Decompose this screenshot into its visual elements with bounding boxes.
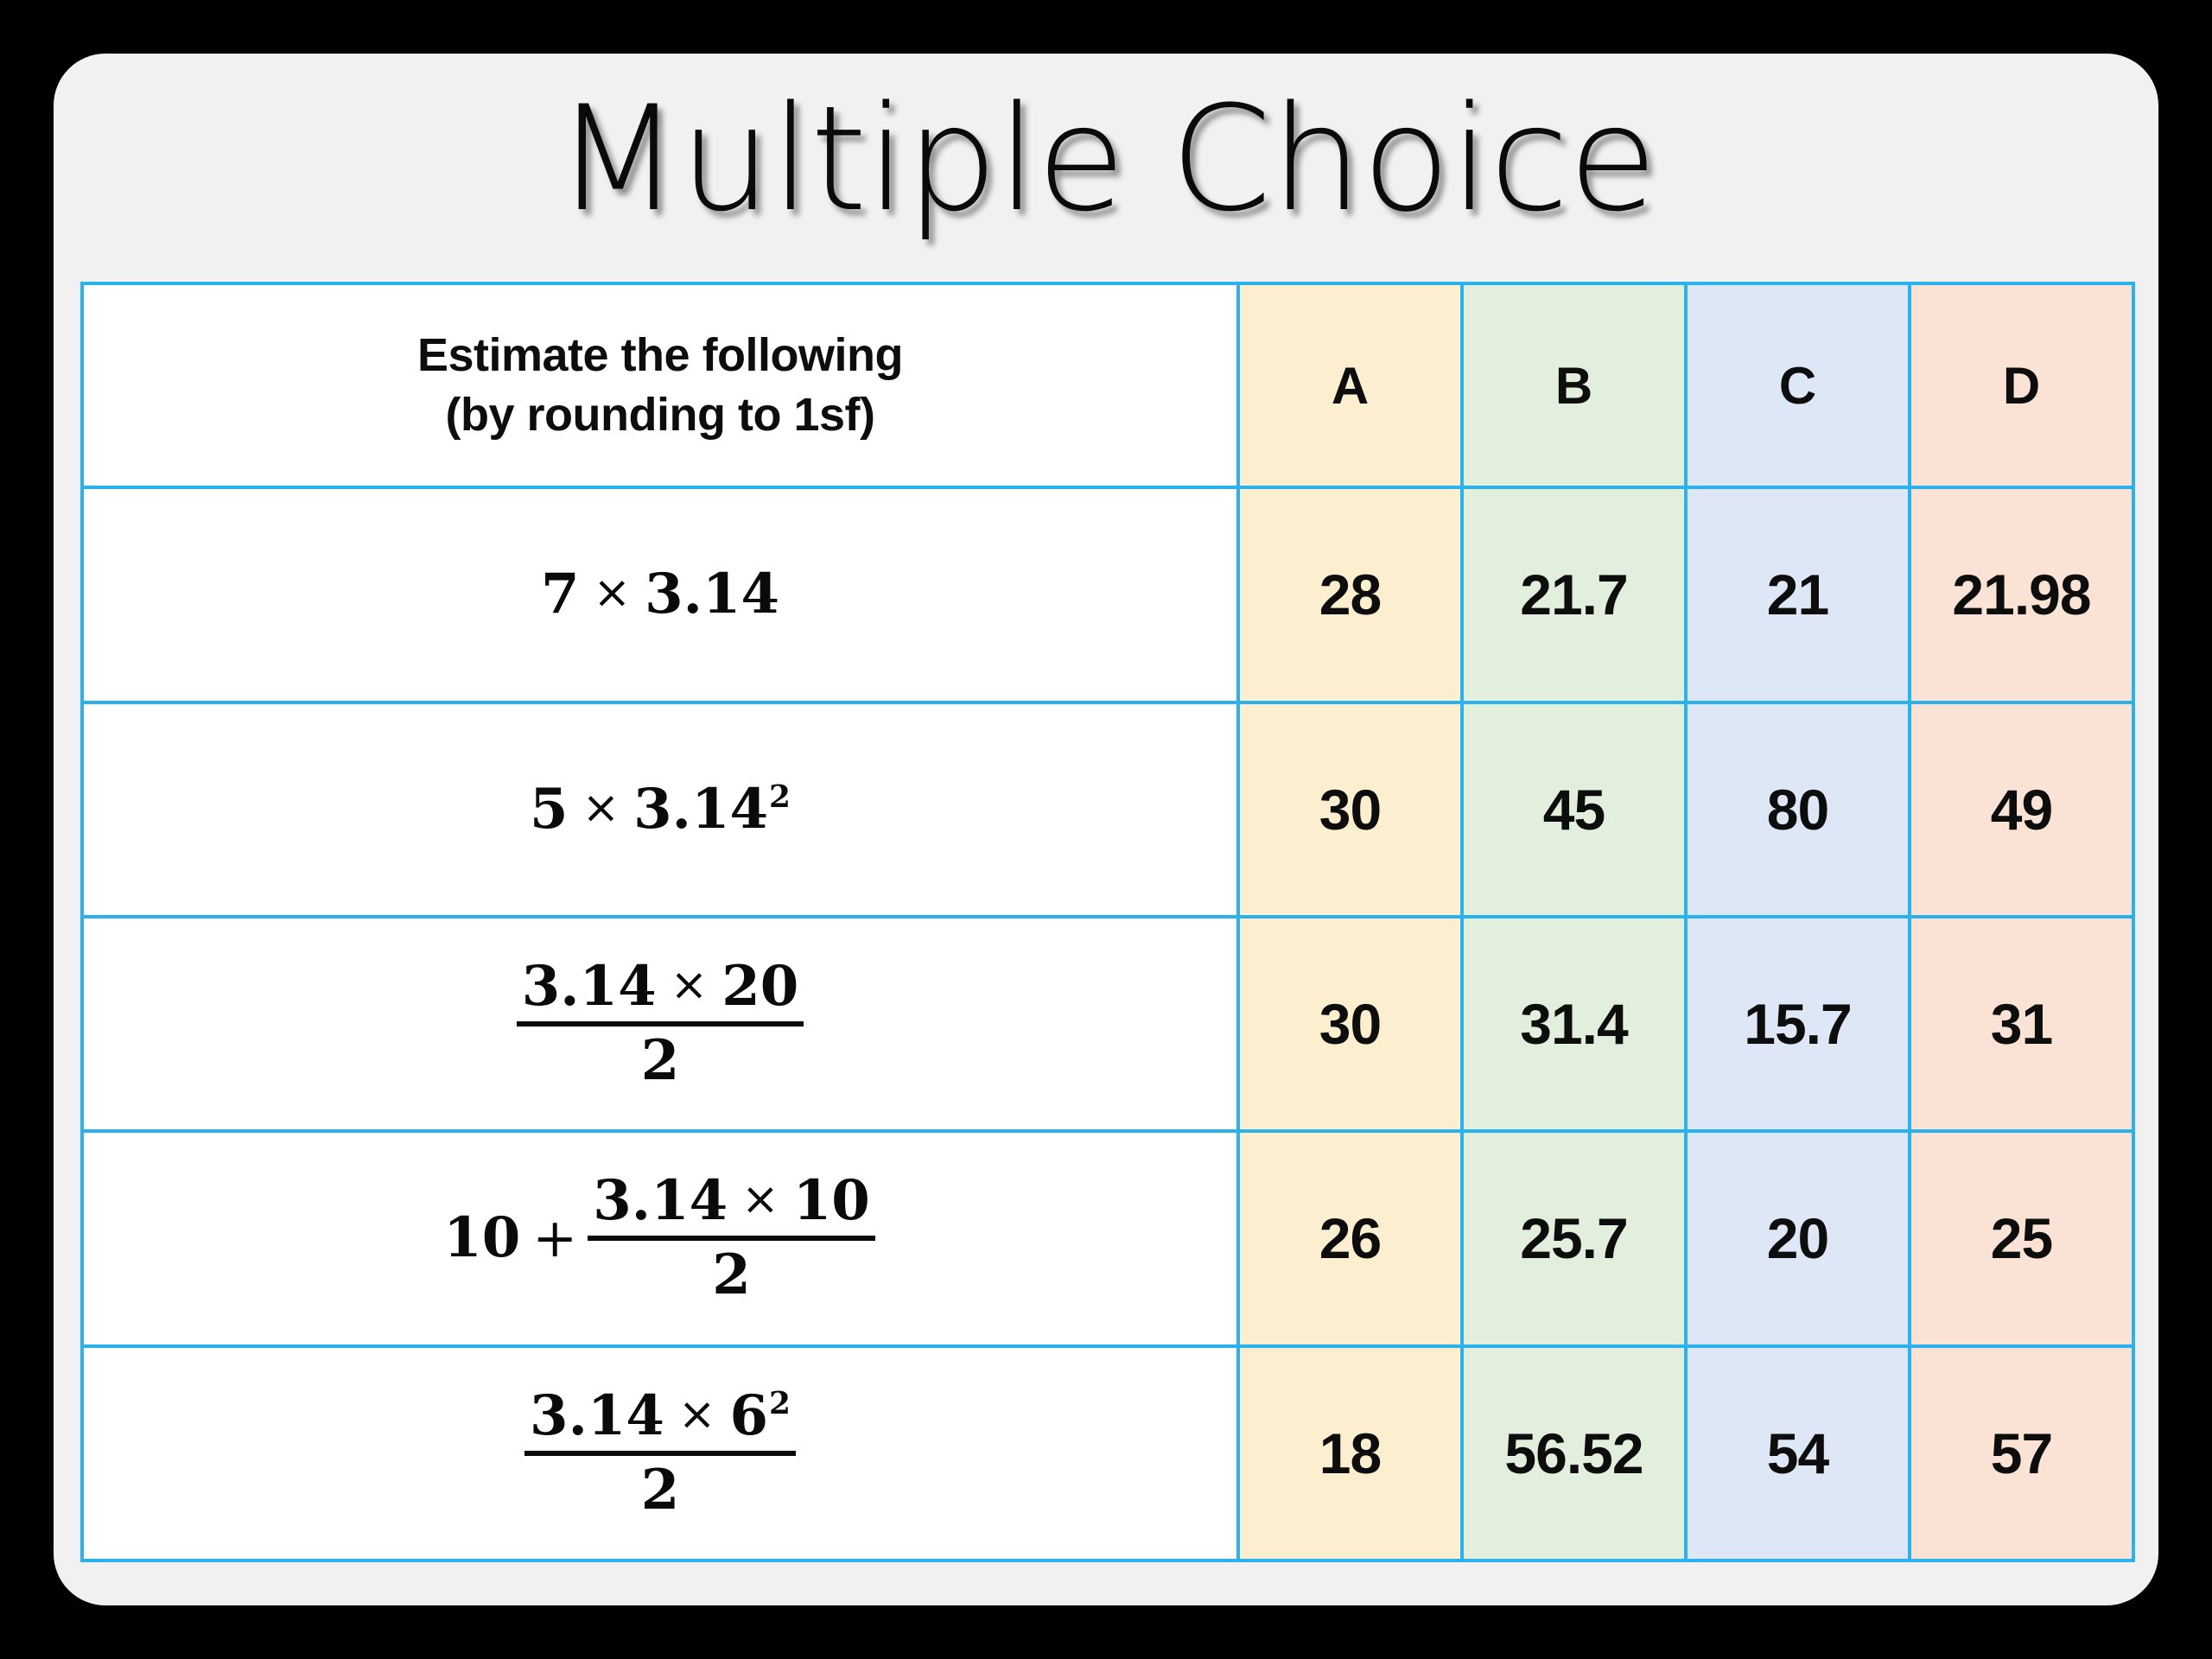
question-cell-4: 10 + 3.14 × 10 2 [82,1131,1238,1345]
expression-1: 7 × 3.14 [541,560,779,629]
fraction-5: 3.14 × 62 2 [524,1389,796,1518]
question-cell-3: 3.14 × 20 2 [82,917,1238,1131]
expression-5: 3.14 × 62 2 [523,1382,798,1525]
question-cell-2: 5 × 3.142 [82,702,1238,917]
expression-2: 5 × 3.142 [530,775,791,844]
answer-cell-d[interactable]: 31 [1910,917,2133,1131]
multiple-choice-table-wrapper: Estimate the following (by rounding to 1… [80,282,2132,1562]
answer-cell-b[interactable]: 25.7 [1462,1131,1686,1345]
answer-cell-c[interactable]: 20 [1686,1131,1910,1345]
fraction-3: 3.14 × 20 2 [517,959,804,1089]
slide-root: Multiple Choice Estimate the following (… [0,0,2212,1659]
fraction-4: 3.14 × 10 2 [588,1173,875,1303]
expr3-num-b: 20 [721,959,798,1014]
expr4-num-a: 3.14 [593,1173,728,1229]
table-row: 7 × 3.14 28 21.7 21 21.98 [82,487,2133,702]
answer-cell-d[interactable]: 25 [1910,1131,2133,1345]
question-header-line1: Estimate the following [84,326,1236,385]
answer-cell-b[interactable]: 21.7 [1462,487,1686,702]
table-header-row: Estimate the following (by rounding to 1… [82,283,2133,487]
choice-header-d: D [1910,283,2133,487]
question-column-header: Estimate the following (by rounding to 1… [82,283,1238,487]
page-title: Multiple Choice [54,83,2158,235]
answer-cell-b[interactable]: 31.4 [1462,917,1686,1131]
fraction-numerator: 3.14 × 62 [524,1389,796,1451]
expr1-operand-b: 3.14 [645,567,779,622]
expr2-operand-a: 5 [530,782,569,837]
answer-cell-d[interactable]: 57 [1910,1346,2133,1560]
multiply-icon: × [671,963,709,1007]
answer-cell-d[interactable]: 49 [1910,702,2133,917]
answer-cell-a[interactable]: 26 [1238,1131,1462,1345]
choice-header-b: B [1462,283,1686,487]
fraction-denominator: 2 [636,1456,685,1518]
fraction-denominator: 2 [636,1027,685,1089]
answer-cell-a[interactable]: 18 [1238,1346,1462,1560]
fraction-numerator: 3.14 × 10 [588,1173,875,1236]
table-row: 5 × 3.142 30 45 80 49 [82,702,2133,917]
fraction-denominator: 2 [707,1241,756,1303]
answer-cell-a[interactable]: 30 [1238,917,1462,1131]
expression-4: 10 + 3.14 × 10 2 [443,1166,877,1310]
answer-cell-b[interactable]: 45 [1462,702,1686,917]
expr5-num-a: 3.14 [530,1389,664,1444]
fraction-numerator: 3.14 × 20 [517,959,804,1021]
question-header-line2: (by rounding to 1sf) [84,385,1236,445]
multiply-icon: × [678,1392,716,1437]
answer-cell-a[interactable]: 30 [1238,702,1462,917]
choice-header-a: A [1238,283,1462,487]
expr2-operand-b: 3.14 [633,782,768,837]
answer-cell-d[interactable]: 21.98 [1910,487,2133,702]
expr5-num-b: 6 [729,1389,768,1444]
question-cell-1: 7 × 3.14 [82,487,1238,702]
slide-card: Multiple Choice Estimate the following (… [54,54,2158,1605]
answer-cell-c[interactable]: 21 [1686,487,1910,702]
question-cell-5: 3.14 × 62 2 [82,1346,1238,1560]
expr3-num-a: 3.14 [522,959,657,1014]
expression-3: 3.14 × 20 2 [515,952,806,1096]
answer-cell-a[interactable]: 28 [1238,487,1462,702]
answer-cell-c[interactable]: 15.7 [1686,917,1910,1131]
multiply-icon: × [741,1177,779,1222]
table-row: 10 + 3.14 × 10 2 [82,1131,2133,1345]
expr1-operand-a: 7 [541,567,580,622]
multiply-icon: × [594,570,632,615]
table-row: 3.14 × 20 2 30 31.4 15. [82,917,2133,1131]
answer-cell-c[interactable]: 54 [1686,1346,1910,1560]
multiple-choice-table: Estimate the following (by rounding to 1… [80,282,2135,1562]
multiply-icon: × [582,785,620,830]
expr4-lead: 10 [443,1211,520,1266]
table-row: 3.14 × 62 2 18 56.52 54 [82,1346,2133,1560]
plus-icon: + [532,1211,577,1265]
choice-header-c: C [1686,283,1910,487]
expr4-num-b: 10 [793,1173,870,1229]
answer-cell-c[interactable]: 80 [1686,702,1910,917]
answer-cell-b[interactable]: 56.52 [1462,1346,1686,1560]
